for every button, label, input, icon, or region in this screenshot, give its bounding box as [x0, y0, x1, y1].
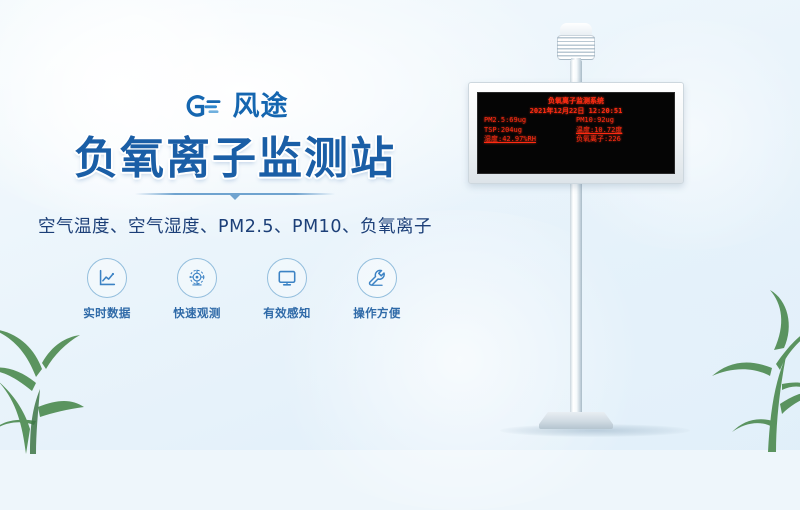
sensor-plates: [557, 35, 595, 60]
led-datetime: 2021年12月22日 12:20:51: [484, 107, 668, 117]
feature-item-realtime-data[interactable]: 实时数据: [74, 258, 140, 321]
divider-triangle-icon: [229, 194, 241, 200]
feature-icon-ring: [267, 258, 307, 298]
hero-text-panel: 风途 负氧离子监测站 空气温度、空气湿度、PM2.5、PM10、负氧离子 实时数…: [0, 86, 470, 321]
led-reading-tsp: TSP:204ug: [484, 126, 576, 136]
feature-item-effective-sensing[interactable]: 有效感知: [254, 258, 320, 321]
feature-item-easy-operation[interactable]: 操作方便: [344, 258, 410, 321]
pole-base-plate: [539, 412, 613, 429]
led-reading-pm10: PM10:92ug: [576, 116, 668, 126]
feature-label: 有效感知: [254, 305, 320, 321]
feature-label: 操作方便: [344, 305, 410, 321]
led-display-panel[interactable]: 负氧离子监测系统 2021年12月22日 12:20:51 PM2.5:69ug…: [468, 82, 684, 184]
divider: [135, 190, 335, 200]
monitor-screen-icon: [276, 267, 298, 289]
feature-item-fast-observation[interactable]: 快速观测: [164, 258, 230, 321]
led-reading-humidity: 湿度:42.97%RH: [484, 135, 576, 145]
leaf-plant-left-icon: [0, 311, 116, 456]
feature-icon-ring: [177, 258, 217, 298]
hero-subtitle: 空气温度、空气湿度、PM2.5、PM10、负氧离子: [0, 213, 470, 238]
led-reading-negative-ions: 负氧离子:226: [576, 135, 668, 145]
feature-icon-ring: [87, 258, 127, 298]
led-reading-temperature: 温度:10.72度: [576, 126, 668, 136]
feature-label: 实时数据: [74, 305, 140, 321]
feature-icon-ring: [357, 258, 397, 298]
wrench-icon: [366, 267, 388, 289]
fengtu-g-wind-logo-icon: [182, 91, 224, 121]
led-screen: 负氧离子监测系统 2021年12月22日 12:20:51 PM2.5:69ug…: [477, 92, 675, 174]
brand-name: 风途: [233, 93, 289, 120]
led-heading: 负氧离子监测系统: [484, 97, 668, 107]
brand-logo: 风途: [0, 86, 470, 126]
leaf-plant-right-icon: [690, 284, 800, 454]
led-reading-pm25: PM2.5:69ug: [484, 116, 576, 126]
hero-banner: 风途 负氧离子监测站 空气温度、空气湿度、PM2.5、PM10、负氧离子 实时数…: [0, 0, 800, 450]
sensor-radar-icon: [186, 267, 208, 289]
feature-list: 实时数据 快速观测: [0, 258, 470, 321]
page-title: 负氧离子监测站: [0, 134, 470, 183]
feature-label: 快速观测: [164, 305, 230, 321]
line-chart-icon: [96, 267, 118, 289]
